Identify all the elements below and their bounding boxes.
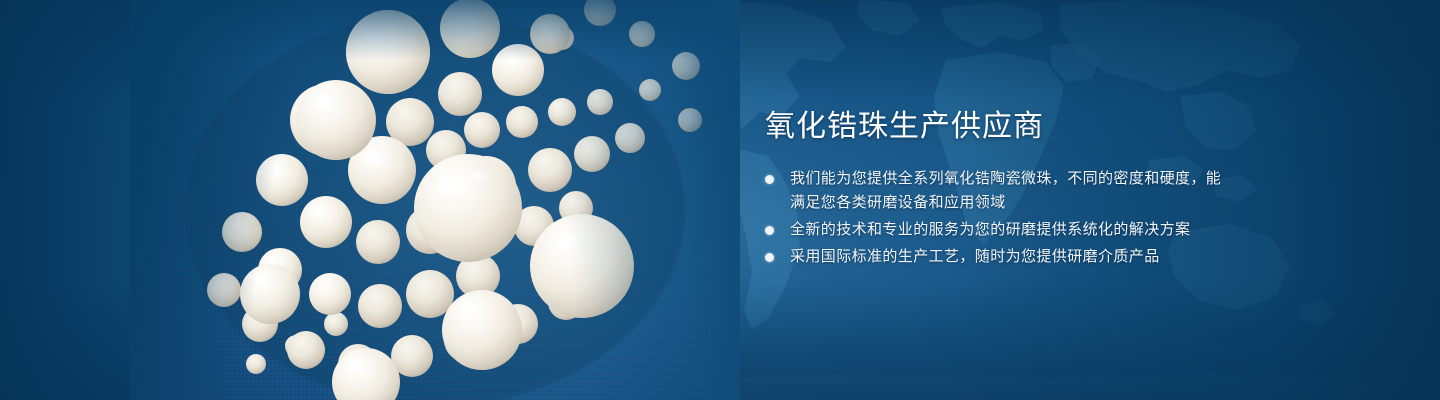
list-item: 我们能为您提供全系列氧化锆陶瓷微珠，不同的密度和硬度，能满足您各类研磨设备和应用… [765,167,1235,215]
bullet-dot-icon [765,175,774,184]
page-title: 氧化锆珠生产供应商 [765,108,1235,146]
feature-text: 采用国际标准的生产工艺，随时为您提供研磨介质产品 [790,245,1160,269]
feature-text: 我们能为您提供全系列氧化锆陶瓷微珠，不同的密度和硬度，能满足您各类研磨设备和应用… [790,167,1235,215]
feature-list: 我们能为您提供全系列氧化锆陶瓷微珠，不同的密度和硬度，能满足您各类研磨设备和应用… [765,167,1235,269]
feature-text: 全新的技术和专业的服务为您的研磨提供系统化的解决方案 [790,218,1190,242]
bullet-dot-icon [765,253,774,262]
bullet-dot-icon [765,226,774,235]
zirconia-beads-image [130,0,740,400]
bead-cluster [130,0,740,400]
list-item: 全新的技术和专业的服务为您的研磨提供系统化的解决方案 [765,218,1235,242]
list-item: 采用国际标准的生产工艺，随时为您提供研磨介质产品 [765,245,1235,269]
hero-banner: 氧化锆珠生产供应商 我们能为您提供全系列氧化锆陶瓷微珠，不同的密度和硬度，能满足… [0,0,1440,400]
banner-copy: 氧化锆珠生产供应商 我们能为您提供全系列氧化锆陶瓷微珠，不同的密度和硬度，能满足… [765,108,1235,272]
